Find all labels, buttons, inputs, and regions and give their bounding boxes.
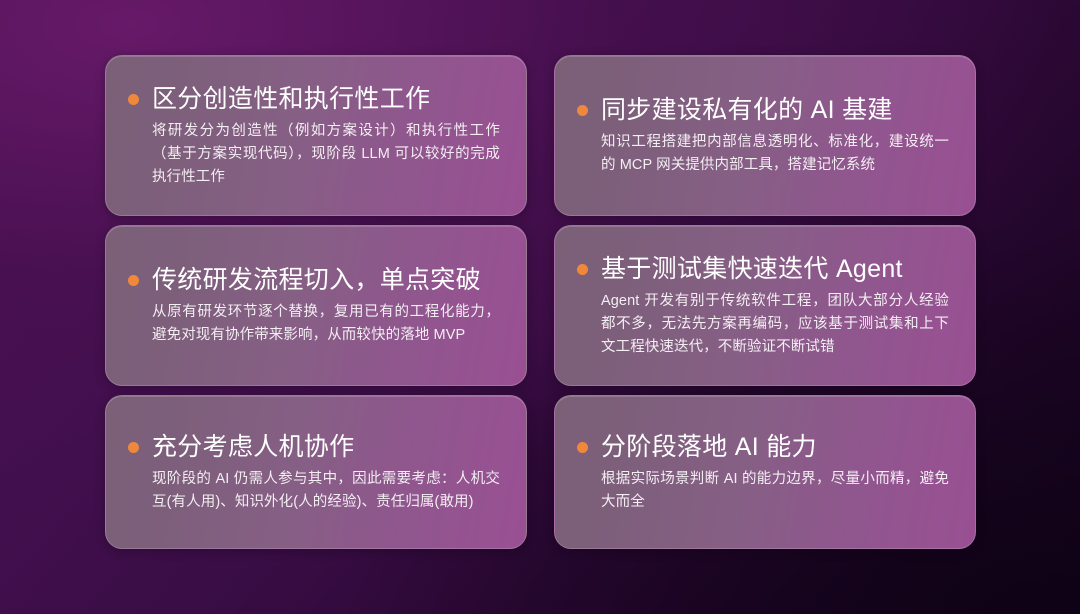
card-content: 传统研发流程切入，单点突破 从原有研发环节逐个替换，复用已有的工程化能力，避免对… bbox=[128, 264, 500, 347]
card-body: 从原有研发环节逐个替换，复用已有的工程化能力，避免对现有协作带来影响，从而较快的… bbox=[152, 301, 500, 347]
card-item[interactable]: 传统研发流程切入，单点突破 从原有研发环节逐个替换，复用已有的工程化能力，避免对… bbox=[105, 225, 527, 386]
card-content: 分阶段落地 AI 能力 根据实际场景判断 AI 的能力边界，尽量小而精，避免大而… bbox=[577, 431, 949, 514]
card-title: 分阶段落地 AI 能力 bbox=[601, 431, 949, 464]
card-title: 传统研发流程切入，单点突破 bbox=[152, 264, 500, 297]
card-text-block: 基于测试集快速迭代 Agent Agent 开发有别于传统软件工程，团队大部分人… bbox=[601, 253, 949, 359]
bullet-dot-icon bbox=[128, 94, 139, 105]
card-body: 根据实际场景判断 AI 的能力边界，尽量小而精，避免大而全 bbox=[601, 468, 949, 514]
card-item[interactable]: 充分考虑人机协作 现阶段的 AI 仍需人参与其中，因此需要考虑：人机交互(有人用… bbox=[105, 395, 527, 549]
card-body: 现阶段的 AI 仍需人参与其中，因此需要考虑：人机交互(有人用)、知识外化(人的… bbox=[152, 468, 500, 514]
card-item[interactable]: 同步建设私有化的 AI 基建 知识工程搭建把内部信息透明化、标准化，建设统一的 … bbox=[554, 55, 976, 216]
bullet-dot-icon bbox=[577, 105, 588, 116]
card-item[interactable]: 基于测试集快速迭代 Agent Agent 开发有别于传统软件工程，团队大部分人… bbox=[554, 225, 976, 386]
card-text-block: 同步建设私有化的 AI 基建 知识工程搭建把内部信息透明化、标准化，建设统一的 … bbox=[601, 94, 949, 177]
bullet-dot-icon bbox=[577, 264, 588, 275]
card-content: 充分考虑人机协作 现阶段的 AI 仍需人参与其中，因此需要考虑：人机交互(有人用… bbox=[128, 431, 500, 514]
card-grid: 区分创造性和执行性工作 将研发分为创造性（例如方案设计）和执行性工作（基于方案实… bbox=[105, 55, 976, 549]
card-title: 充分考虑人机协作 bbox=[152, 431, 500, 464]
card-text-block: 分阶段落地 AI 能力 根据实际场景判断 AI 的能力边界，尽量小而精，避免大而… bbox=[601, 431, 949, 514]
card-title: 同步建设私有化的 AI 基建 bbox=[601, 94, 949, 127]
card-body: 知识工程搭建把内部信息透明化、标准化，建设统一的 MCP 网关提供内部工具，搭建… bbox=[601, 131, 949, 177]
card-body: 将研发分为创造性（例如方案设计）和执行性工作（基于方案实现代码），现阶段 LLM… bbox=[152, 120, 500, 189]
card-title: 基于测试集快速迭代 Agent bbox=[601, 253, 949, 286]
card-content: 基于测试集快速迭代 Agent Agent 开发有别于传统软件工程，团队大部分人… bbox=[577, 253, 949, 359]
card-item[interactable]: 分阶段落地 AI 能力 根据实际场景判断 AI 的能力边界，尽量小而精，避免大而… bbox=[554, 395, 976, 549]
card-item[interactable]: 区分创造性和执行性工作 将研发分为创造性（例如方案设计）和执行性工作（基于方案实… bbox=[105, 55, 527, 216]
card-text-block: 传统研发流程切入，单点突破 从原有研发环节逐个替换，复用已有的工程化能力，避免对… bbox=[152, 264, 500, 347]
slide-canvas: 区分创造性和执行性工作 将研发分为创造性（例如方案设计）和执行性工作（基于方案实… bbox=[0, 0, 1080, 614]
card-body: Agent 开发有别于传统软件工程，团队大部分人经验都不多，无法先方案再编码，应… bbox=[601, 290, 949, 359]
card-content: 同步建设私有化的 AI 基建 知识工程搭建把内部信息透明化、标准化，建设统一的 … bbox=[577, 94, 949, 177]
card-title: 区分创造性和执行性工作 bbox=[152, 83, 500, 116]
bullet-dot-icon bbox=[577, 442, 588, 453]
bullet-dot-icon bbox=[128, 275, 139, 286]
card-content: 区分创造性和执行性工作 将研发分为创造性（例如方案设计）和执行性工作（基于方案实… bbox=[128, 83, 500, 189]
card-text-block: 区分创造性和执行性工作 将研发分为创造性（例如方案设计）和执行性工作（基于方案实… bbox=[152, 83, 500, 189]
bullet-dot-icon bbox=[128, 442, 139, 453]
card-text-block: 充分考虑人机协作 现阶段的 AI 仍需人参与其中，因此需要考虑：人机交互(有人用… bbox=[152, 431, 500, 514]
